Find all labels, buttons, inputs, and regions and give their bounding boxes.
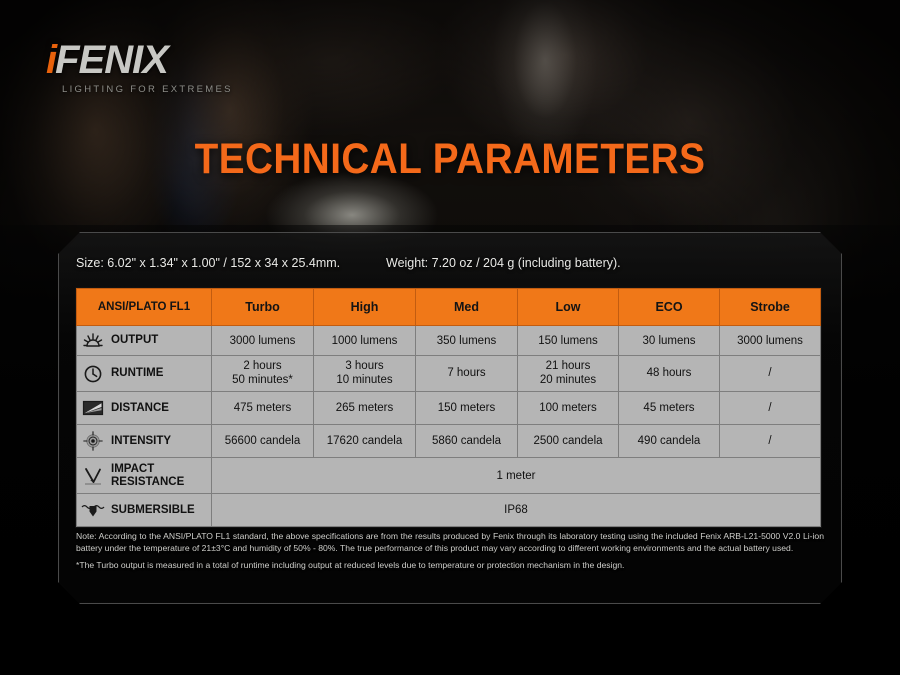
cell-intensity-high: 17620 candela <box>314 425 416 458</box>
cell-output-med: 350 lumens <box>416 326 518 356</box>
cell-output-eco: 30 lumens <box>619 326 720 356</box>
target-intensity-icon <box>81 431 105 451</box>
weight-text: Weight: 7.20 oz / 204 g (including batte… <box>386 256 621 270</box>
cell-output-turbo: 3000 lumens <box>212 326 314 356</box>
header-high: High <box>314 289 416 326</box>
table-row-runtime: RUNTIME 2 hours50 minutes* 3 hours10 min… <box>77 356 821 392</box>
header-ansi-plato: ANSI/PLATO FL1 <box>77 289 212 326</box>
drop-impact-icon <box>81 466 105 486</box>
cell-runtime-strobe: / <box>720 356 821 392</box>
cell-impact-resistance-value: 1 meter <box>212 458 821 494</box>
rowhead-submersible: SUBMERSIBLE <box>77 494 212 527</box>
page-title: TECHNICAL PARAMETERS <box>45 135 855 184</box>
specifications-table: ANSI/PLATO FL1 Turbo High Med Low ECO St… <box>76 288 821 527</box>
cell-distance-eco: 45 meters <box>619 392 720 425</box>
cell-output-high: 1000 lumens <box>314 326 416 356</box>
cell-distance-med: 150 meters <box>416 392 518 425</box>
cell-intensity-med: 5860 candela <box>416 425 518 458</box>
logo-tagline: LIGHTING FOR EXTREMES <box>62 84 246 95</box>
rowhead-distance: DISTANCE <box>77 392 212 425</box>
rowhead-label-output: OUTPUT <box>111 334 158 347</box>
sunburst-icon <box>81 331 105 351</box>
header-strobe: Strobe <box>720 289 821 326</box>
cell-intensity-strobe: / <box>720 425 821 458</box>
cell-runtime-eco: 48 hours <box>619 356 720 392</box>
rowhead-label-distance: DISTANCE <box>111 402 169 415</box>
fenix-logo: i FENIX LIGHTING FOR EXTREMES <box>46 40 246 95</box>
footnote-turbo: *The Turbo output is measured in a total… <box>76 559 824 571</box>
cell-output-strobe: 3000 lumens <box>720 326 821 356</box>
rowhead-runtime: RUNTIME <box>77 356 212 392</box>
cell-runtime-high: 3 hours10 minutes <box>314 356 416 392</box>
table-row-distance: DISTANCE 475 meters 265 meters 150 meter… <box>77 392 821 425</box>
footnote-ansi: Note: According to the ANSI/PLATO FL1 st… <box>76 530 824 554</box>
cell-intensity-low: 2500 candela <box>518 425 619 458</box>
header-med: Med <box>416 289 518 326</box>
cell-distance-turbo: 475 meters <box>212 392 314 425</box>
rowhead-label-intensity: INTENSITY <box>111 435 171 448</box>
rowhead-impact-resistance: IMPACTRESISTANCE <box>77 458 212 494</box>
logo-wordmark: FENIX <box>55 40 168 80</box>
dimensions-row: Size: 6.02" x 1.34" x 1.00" / 152 x 34 x… <box>76 256 836 270</box>
rowhead-output: OUTPUT <box>77 326 212 356</box>
rowhead-label-runtime: RUNTIME <box>111 367 163 380</box>
beam-distance-icon <box>81 398 105 418</box>
logo-initial: i <box>46 40 55 80</box>
clock-icon <box>81 364 105 384</box>
cell-distance-low: 100 meters <box>518 392 619 425</box>
cell-intensity-turbo: 56600 candela <box>212 425 314 458</box>
rowhead-label-impact-resistance: IMPACTRESISTANCE <box>111 463 184 489</box>
table-row-impact-resistance: IMPACTRESISTANCE 1 meter <box>77 458 821 494</box>
cell-submersible-value: IP68 <box>212 494 821 527</box>
cell-runtime-turbo: 2 hours50 minutes* <box>212 356 314 392</box>
table-row-submersible: SUBMERSIBLE IP68 <box>77 494 821 527</box>
cell-intensity-eco: 490 candela <box>619 425 720 458</box>
cell-runtime-low: 21 hours20 minutes <box>518 356 619 392</box>
header-turbo: Turbo <box>212 289 314 326</box>
footnotes: Note: According to the ANSI/PLATO FL1 st… <box>76 530 824 572</box>
table-row-intensity: INTENSITY 56600 candela 17620 candela 58… <box>77 425 821 458</box>
cell-distance-strobe: / <box>720 392 821 425</box>
header-eco: ECO <box>619 289 720 326</box>
rowhead-label-submersible: SUBMERSIBLE <box>111 504 195 517</box>
table-header-row: ANSI/PLATO FL1 Turbo High Med Low ECO St… <box>77 289 821 326</box>
cell-output-low: 150 lumens <box>518 326 619 356</box>
submersible-icon <box>81 500 105 520</box>
cell-distance-high: 265 meters <box>314 392 416 425</box>
size-text: Size: 6.02" x 1.34" x 1.00" / 152 x 34 x… <box>76 256 386 270</box>
logo-mark: i FENIX <box>46 40 246 80</box>
header-low: Low <box>518 289 619 326</box>
table-row-output: OUTPUT 3000 lumens 1000 lumens 350 lumen… <box>77 326 821 356</box>
rowhead-intensity: INTENSITY <box>77 425 212 458</box>
technical-parameters-page: i FENIX LIGHTING FOR EXTREMES TECHNICAL … <box>0 0 900 675</box>
cell-runtime-med: 7 hours <box>416 356 518 392</box>
